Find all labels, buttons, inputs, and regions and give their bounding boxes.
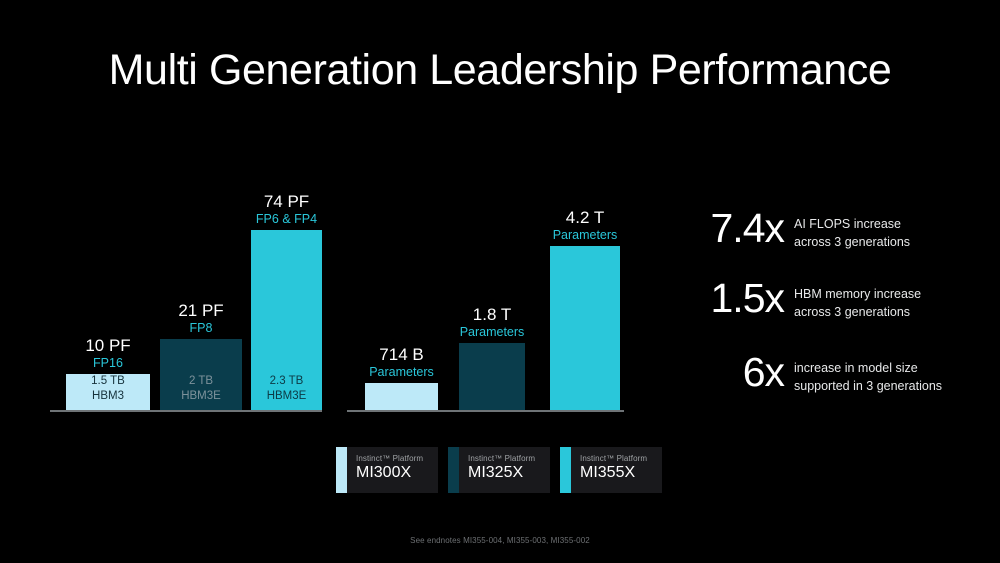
legend-platform-label: Instinct™ Platform (356, 454, 423, 463)
bar-inner-flops-0: 1.5 TB HBM3 (66, 374, 150, 403)
stat-multiplier: 1.5x (688, 278, 784, 319)
stat-description: HBM memory increaseacross 3 generations (794, 285, 921, 321)
bar-inner-flops-2: 2.3 TB HBM3E (251, 374, 322, 403)
bar-flops-0: 1.5 TB HBM3 (66, 374, 150, 410)
bar-slot-flops-2: 74 PF FP6 & FP4 2.3 TB HBM3E (251, 230, 322, 410)
bar-label-flops-2: 74 PF FP6 & FP4 (229, 192, 344, 226)
stat-multiplier: 6x (688, 352, 784, 393)
bar-slot-flops-1: 21 PF FP8 2 TB HBM3E (160, 339, 242, 410)
legend: Instinct™ Platform MI300X Instinct™ Plat… (336, 447, 676, 493)
legend-platform-label: Instinct™ Platform (580, 454, 647, 463)
legend-item-mi355x[interactable]: Instinct™ Platform MI355X (560, 447, 662, 493)
chart-baseline-flops (50, 410, 322, 412)
stat-multiplier: 7.4x (688, 208, 784, 249)
chart-baseline-params (347, 410, 624, 412)
bar-label-params-1: 1.8 T Parameters (437, 305, 547, 339)
bar-label-params-2: 4.2 T Parameters (528, 208, 642, 242)
bar-label-flops-1: 21 PF FP8 (138, 301, 264, 335)
bar-label-flops-0: 10 PF FP16 (44, 336, 172, 370)
bar-params-2 (550, 246, 620, 410)
bar-slot-params-2: 4.2 T Parameters (550, 246, 620, 410)
legend-swatch-icon (336, 447, 347, 493)
chart-ai-flops: 10 PF FP16 1.5 TB HBM3 21 PF FP8 2 TB HB… (50, 150, 322, 412)
stat-desc-line1: AI FLOPS increase (794, 217, 901, 231)
slide-root: Multi Generation Leadership Performance … (0, 0, 1000, 563)
legend-swatch-icon (448, 447, 459, 493)
stat-desc-line2: across 3 generations (794, 305, 910, 319)
legend-model-label: MI355X (580, 464, 647, 482)
bar-params-1 (459, 343, 525, 410)
stat-desc-line1: HBM memory increase (794, 287, 921, 301)
stat-desc-line2: across 3 generations (794, 235, 910, 249)
legend-item-mi325x[interactable]: Instinct™ Platform MI325X (448, 447, 550, 493)
chart-model-size: 714 B Parameters 1.8 T Parameters 4.2 T … (347, 150, 624, 412)
bar-slot-params-0: 714 B Parameters (365, 383, 438, 410)
legend-model-label: MI300X (356, 464, 423, 482)
bar-label-params-0: 714 B Parameters (343, 345, 460, 379)
stat-description: increase in model sizesupported in 3 gen… (794, 359, 942, 395)
stat-desc-line2: supported in 3 generations (794, 379, 942, 393)
bar-flops-1: 2 TB HBM3E (160, 339, 242, 410)
stat-desc-line1: increase in model size (794, 361, 918, 375)
legend-platform-label: Instinct™ Platform (468, 454, 535, 463)
page-title: Multi Generation Leadership Performance (0, 46, 1000, 95)
legend-item-mi300x[interactable]: Instinct™ Platform MI300X (336, 447, 438, 493)
stat-description: AI FLOPS increaseacross 3 generations (794, 215, 910, 251)
bar-slot-params-1: 1.8 T Parameters (459, 343, 525, 410)
footnote-endnotes: See endnotes MI355-004, MI355-003, MI355… (0, 536, 1000, 545)
bar-flops-2: 2.3 TB HBM3E (251, 230, 322, 410)
legend-swatch-icon (560, 447, 571, 493)
bar-inner-flops-1: 2 TB HBM3E (160, 374, 242, 403)
bar-params-0 (365, 383, 438, 410)
bar-slot-flops-0: 10 PF FP16 1.5 TB HBM3 (66, 374, 150, 410)
legend-model-label: MI325X (468, 464, 535, 482)
